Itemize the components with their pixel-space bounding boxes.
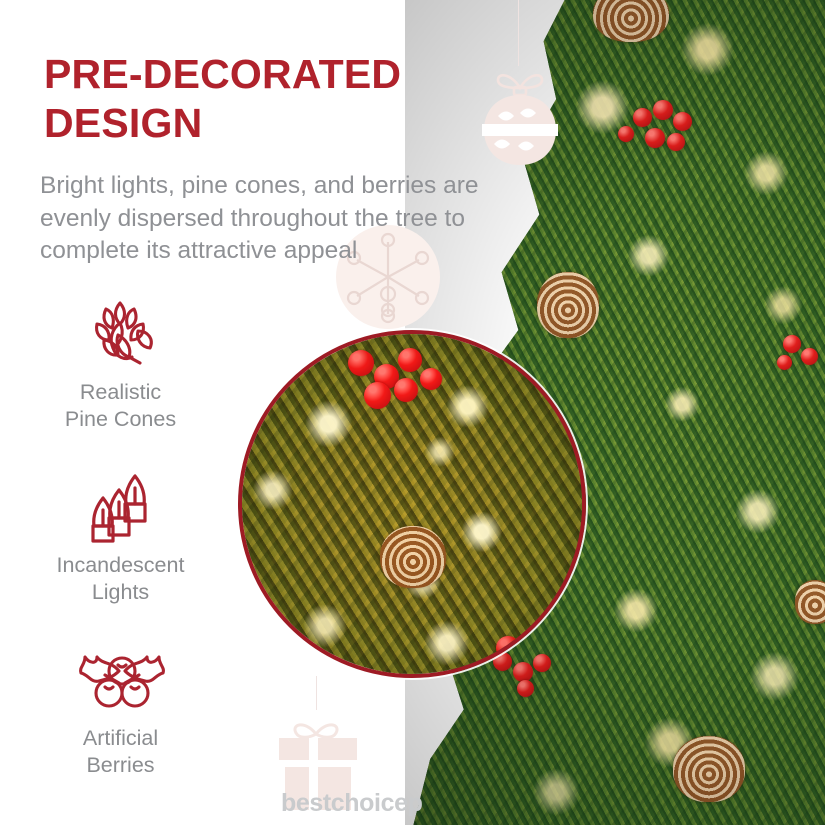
berry [673,112,692,131]
feature-list: Realistic Pine Cones [8,296,233,815]
pine-cone [673,736,745,802]
pine-cone-icon [8,296,233,372]
berry [667,133,685,151]
page-title: PRE-DECORATED DESIGN [44,50,474,148]
berry [517,680,534,697]
berry [645,128,665,148]
feature-item-berries: Artificial Berries [8,642,233,779]
description-text: Bright lights, pine cones, and berries a… [40,170,500,268]
feature-label: Incandescent Lights [8,552,233,606]
berry [633,108,652,127]
light-bulbs-icon [8,469,233,545]
berry [801,348,818,365]
holly-berries-icon [8,642,233,718]
berry [618,126,634,142]
gift-box-string [316,676,317,710]
feature-label: Realistic Pine Cones [8,379,233,433]
feature-item-pine-cones: Realistic Pine Cones [8,296,233,433]
brand-watermark: bestchoicep [281,789,422,818]
feature-label: Artificial Berries [8,725,233,779]
magnified-foliage [238,330,586,678]
magnified-detail-circle [238,330,586,678]
gift-box-watermark [269,700,379,812]
berry [783,335,801,353]
pine-cone [537,272,599,338]
berry [653,100,673,120]
magnifier-vignette [238,330,586,678]
product-feature-card: PRE-DECORATED DESIGN Bright lights, pine… [0,0,825,825]
ornament-string [518,0,519,66]
berry [777,355,792,370]
pine-cone [795,580,825,624]
feature-item-lights: Incandescent Lights [8,469,233,606]
